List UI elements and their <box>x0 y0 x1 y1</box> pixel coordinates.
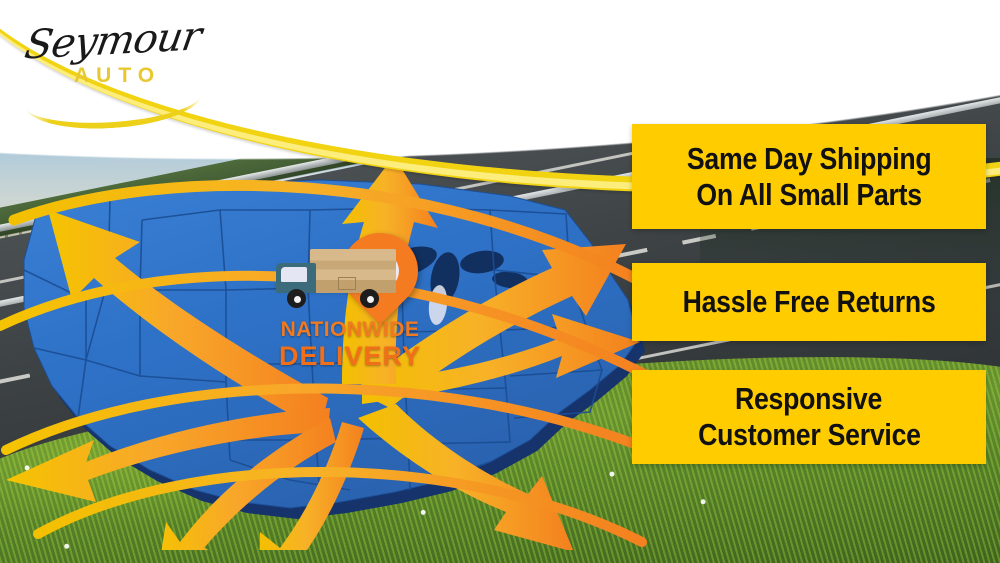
promo-banner: NATIONWIDE DELIVERY Seymour AUTO Same Da… <box>0 0 1000 563</box>
feature-line: Same Day Shipping <box>687 141 932 177</box>
truck-wheel <box>360 289 379 308</box>
truck-window <box>281 267 307 282</box>
feature-line: Responsive <box>735 381 882 417</box>
truck-cargo-box <box>310 249 396 293</box>
feature-line: Hassle Free Returns <box>683 284 936 320</box>
nationwide-delivery-callout: NATIONWIDE DELIVERY <box>268 225 428 375</box>
feature-box-same-day-shipping[interactable]: Same Day Shipping On All Small Parts <box>632 124 986 229</box>
truck-wheel <box>287 289 306 308</box>
feature-line: Customer Service <box>698 417 921 453</box>
feature-line: On All Small Parts <box>696 177 921 213</box>
logo-subname: AUTO <box>74 64 161 88</box>
callout-line-2: DELIVERY <box>260 343 440 370</box>
callout-line-1: NATIONWIDE <box>260 319 440 340</box>
delivery-truck-icon <box>276 249 396 311</box>
feature-box-hassle-free-returns[interactable]: Hassle Free Returns <box>632 263 986 341</box>
brand-logo[interactable]: Seymour AUTO <box>18 12 208 98</box>
logo-name: Seymour <box>21 13 204 68</box>
feature-box-responsive-customer-service[interactable]: Responsive Customer Service <box>632 370 986 464</box>
